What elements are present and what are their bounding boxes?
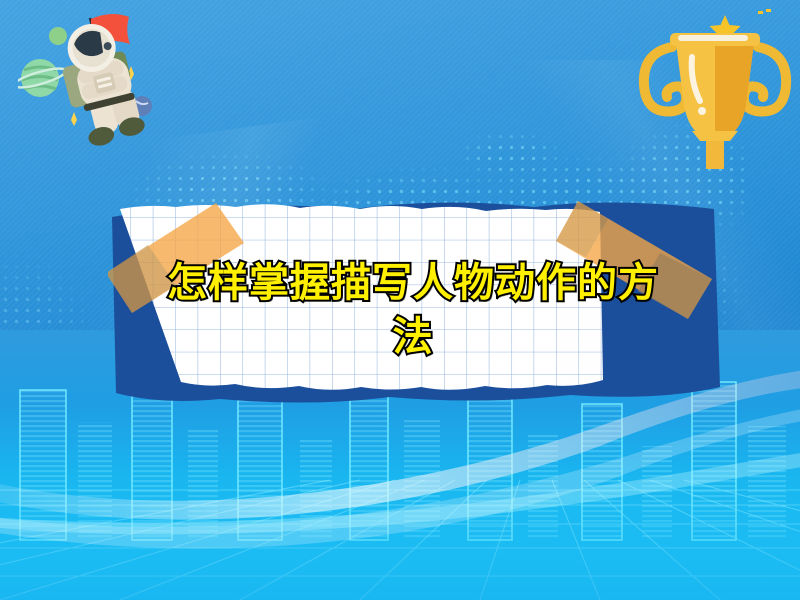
sparkle-dash bbox=[758, 11, 763, 14]
slide-canvas: 怎样掌握描写人物动作的方 法 bbox=[0, 0, 800, 600]
striped-green-planet bbox=[18, 59, 68, 97]
title-line-2: 法 bbox=[393, 310, 434, 364]
torn-paper-note: 怎样掌握描写人物动作的方 法 bbox=[108, 195, 728, 420]
sparkle bbox=[71, 112, 77, 126]
note-text-block: 怎样掌握描写人物动作的方 法 bbox=[122, 203, 704, 403]
astronaut-icon bbox=[18, 0, 168, 155]
trophy-icon bbox=[630, 5, 800, 180]
sparkle-dash bbox=[766, 9, 771, 12]
astronaut-body bbox=[53, 17, 147, 151]
green-small-planet bbox=[49, 27, 67, 45]
title-line-1: 怎样掌握描写人物动作的方 bbox=[167, 256, 659, 310]
